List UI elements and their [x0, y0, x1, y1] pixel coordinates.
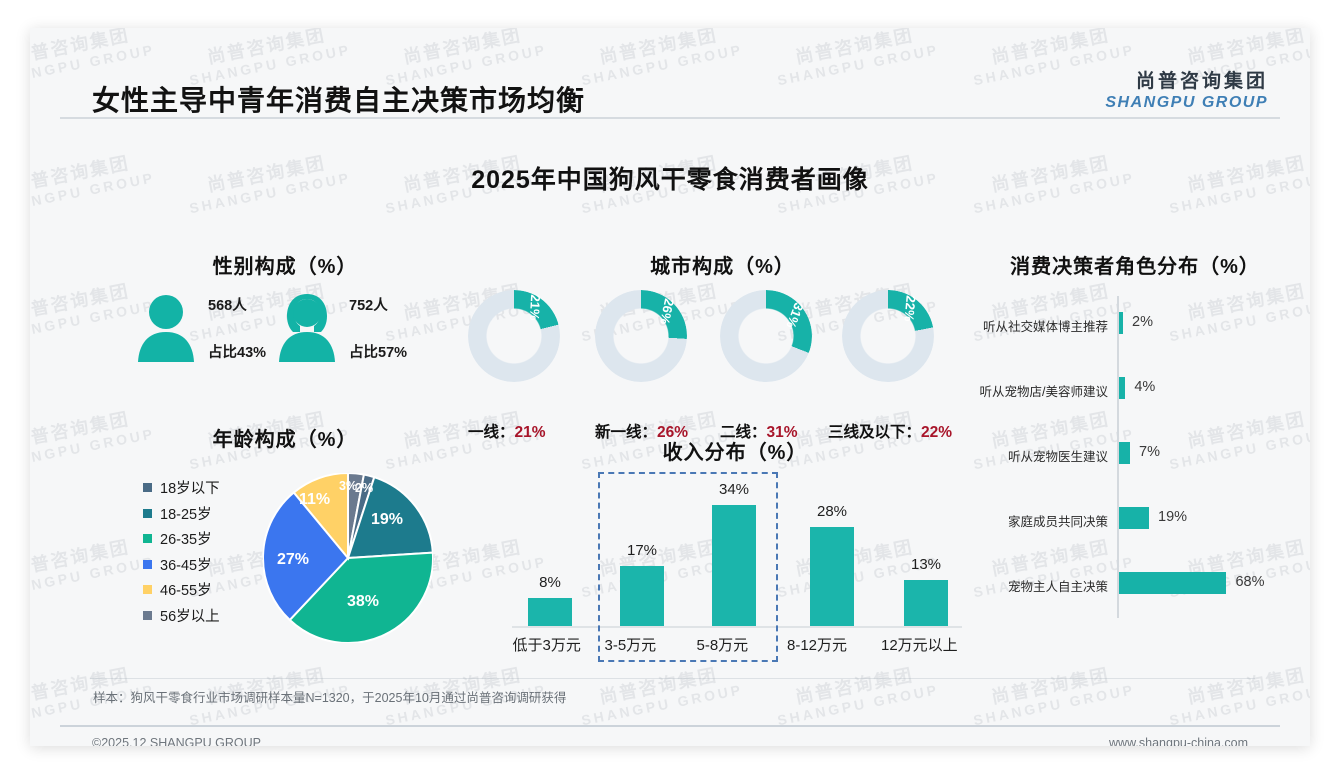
- role-label: 听从宠物店/美容师建议: [980, 381, 1108, 400]
- watermark-text: 尚普咨询集团SHANGPU GROUP: [772, 661, 940, 728]
- pie-slice-label: 11%: [299, 491, 330, 509]
- income-bar: [528, 598, 572, 626]
- income-value: 8%: [515, 574, 585, 591]
- legend-swatch: [143, 534, 152, 543]
- income-bar: [620, 566, 664, 626]
- footer-divider: [60, 725, 1280, 727]
- city-donut-4: 22%三线及以下：22%: [842, 290, 942, 382]
- donut-ring: [842, 290, 934, 382]
- role-bar: [1119, 442, 1130, 464]
- gender-section: 性别构成（%） 568人 占比43%: [120, 250, 450, 390]
- legend-swatch: [143, 611, 152, 620]
- income-baseline: [512, 626, 962, 628]
- income-section-title: 收入分布（%）: [480, 436, 990, 465]
- age-section-title: 年龄构成（%）: [115, 423, 455, 452]
- pie-slice-label: 27%: [277, 551, 309, 569]
- donut-value-label: 21%: [527, 294, 543, 321]
- legend-swatch: [143, 585, 152, 594]
- income-category: 12万元以上: [881, 634, 958, 655]
- brand-logo: 尚普咨询集团 SHANGPU GROUP: [1105, 66, 1268, 112]
- age-legend-item-1: 18岁以下: [143, 475, 220, 501]
- city-donut-1: 21%一线：21%: [468, 290, 568, 382]
- female-person-icon: [275, 292, 339, 364]
- page-title: 女性主导中青年消费自主决策市场均衡: [92, 79, 585, 119]
- role-label: 听从社交媒体博主推荐: [983, 316, 1108, 335]
- infographic-page: 尚普咨询集团SHANGPU GROUP尚普咨询集团SHANGPU GROUP尚普…: [0, 0, 1340, 780]
- age-legend-item-4: 36-45岁: [143, 552, 220, 578]
- role-bar: [1119, 572, 1226, 594]
- role-value: 7%: [1139, 444, 1160, 460]
- age-legend-item-5: 46-55岁: [143, 577, 220, 603]
- decision-role-title: 消费决策者角色分布（%）: [980, 250, 1290, 279]
- role-bar: [1119, 377, 1125, 399]
- donut-ring: [468, 290, 560, 382]
- age-legend-item-6: 56岁以上: [143, 603, 220, 629]
- decision-role-section: 消费决策者角色分布（%） 听从社交媒体博主推荐2%听从宠物店/美容师建议4%听从…: [990, 250, 1290, 630]
- income-value: 34%: [699, 481, 769, 498]
- donut-value-label: 22%: [902, 295, 919, 322]
- legend-label: 18岁以下: [160, 477, 220, 498]
- legend-swatch: [143, 509, 152, 518]
- role-bar: [1119, 507, 1149, 529]
- legend-label: 56岁以上: [160, 605, 220, 626]
- city-donut-3: 31%二线：31%: [720, 290, 820, 382]
- city-section-title: 城市构成（%）: [450, 250, 995, 279]
- income-category: 8-12万元: [787, 634, 847, 655]
- pie-slice-label: 38%: [347, 593, 379, 611]
- legend-label: 18-25岁: [160, 503, 212, 524]
- role-label: 听从宠物医生建议: [1008, 446, 1108, 465]
- logo-en-text: SHANGPU GROUP: [1105, 94, 1268, 112]
- male-share: 占比43%: [208, 341, 266, 362]
- legend-label: 36-45岁: [160, 554, 212, 575]
- male-count: 568人: [208, 294, 266, 315]
- age-legend-item-2: 18-25岁: [143, 501, 220, 527]
- watermark-text: 尚普咨询集团SHANGPU GROUP: [576, 28, 744, 88]
- gender-item-female: 752人 占比57%: [275, 292, 407, 364]
- age-pie-chart: 3%2%19%38%27%11%: [263, 473, 433, 643]
- income-category: 5-8万元: [697, 634, 749, 655]
- role-value: 4%: [1134, 379, 1155, 395]
- role-bar: [1119, 312, 1123, 334]
- role-value: 68%: [1235, 574, 1264, 590]
- footer-copyright: ©2025.12 SHANGPU GROUP: [92, 736, 261, 746]
- role-value: 2%: [1132, 314, 1153, 330]
- legend-swatch: [143, 483, 152, 492]
- income-category: 3-5万元: [605, 634, 657, 655]
- income-bar: [904, 580, 948, 626]
- income-bar: [810, 527, 854, 626]
- gender-item-male: 568人 占比43%: [134, 292, 266, 364]
- logo-cn-text: 尚普咨询集团: [1105, 66, 1268, 93]
- slide-card: 尚普咨询集团SHANGPU GROUP尚普咨询集团SHANGPU GROUP尚普…: [30, 28, 1310, 746]
- footer-website[interactable]: www.shangpu-china.com: [1109, 736, 1248, 746]
- legend-swatch: [143, 560, 152, 569]
- sample-note: 样本：狗风干零食行业市场调研样本量N=1320，于2025年10月通过尚普咨询调…: [93, 687, 566, 706]
- female-share: 占比57%: [349, 341, 407, 362]
- note-divider: [90, 678, 1255, 679]
- gender-section-title: 性别构成（%）: [120, 250, 450, 279]
- age-section: 年龄构成（%） 18岁以下18-25岁26-35岁36-45岁46-55岁56岁…: [115, 423, 470, 663]
- income-value: 28%: [797, 503, 867, 520]
- income-value: 17%: [607, 542, 677, 559]
- age-legend: 18岁以下18-25岁26-35岁36-45岁46-55岁56岁以上: [143, 475, 220, 628]
- legend-label: 26-35岁: [160, 528, 212, 549]
- female-stats: 752人 占比57%: [349, 294, 407, 362]
- role-label: 宠物主人自主决策: [1008, 576, 1108, 595]
- city-donut-2: 26%新一线：26%: [595, 290, 695, 382]
- city-section: 城市构成（%） 21%一线：21%26%新一线：26%31%二线：31%22%三…: [450, 250, 995, 400]
- male-person-icon: [134, 292, 198, 364]
- watermark-text: 尚普咨询集团SHANGPU GROUP: [576, 661, 744, 728]
- income-section: 收入分布（%） 8%低于3万元17%3-5万元34%5-8万元28%8-12万元…: [480, 436, 990, 666]
- pie-slice-label: 19%: [371, 511, 403, 529]
- income-bar: [712, 505, 756, 626]
- watermark-text: 尚普咨询集团SHANGPU GROUP: [1164, 661, 1310, 728]
- income-category: 低于3万元: [513, 634, 581, 655]
- legend-label: 46-55岁: [160, 579, 212, 600]
- male-stats: 568人 占比43%: [208, 294, 266, 362]
- chart-title: 2025年中国狗风干零食消费者画像: [30, 160, 1310, 196]
- watermark-text: 尚普咨询集团SHANGPU GROUP: [772, 28, 940, 88]
- pie-slice-label: 2%: [355, 481, 373, 495]
- role-value: 19%: [1158, 509, 1187, 525]
- watermark-text: 尚普咨询集团SHANGPU GROUP: [968, 661, 1136, 728]
- female-count: 752人: [349, 294, 407, 315]
- income-value: 13%: [891, 556, 961, 573]
- age-legend-item-3: 26-35岁: [143, 526, 220, 552]
- role-label: 家庭成员共同决策: [1008, 511, 1108, 530]
